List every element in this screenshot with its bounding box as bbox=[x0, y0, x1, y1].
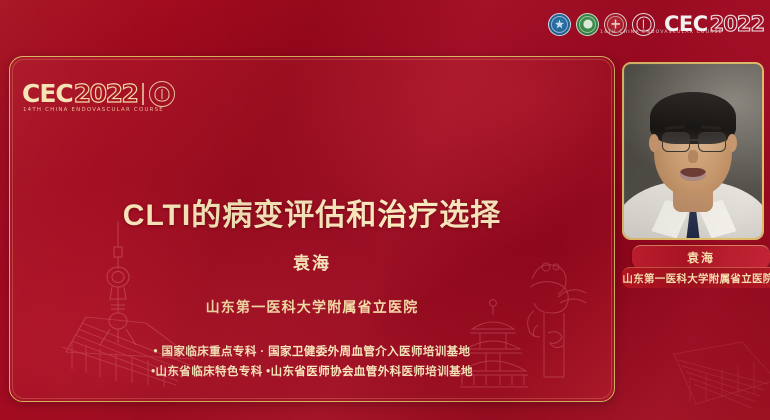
organization-emblem-1-icon bbox=[548, 13, 571, 36]
slide-cec-year: 2022 bbox=[74, 82, 138, 106]
presentation-slide[interactable]: CEC 2022 14TH CHINA ENDOVASCULAR COURSE … bbox=[9, 56, 615, 402]
speaker-name-text: 袁海 bbox=[687, 249, 715, 266]
slide-organization: 山东第一医科大学附属省立医院 bbox=[10, 297, 614, 317]
conference-logo-bar: CEC 2022 bbox=[548, 5, 766, 43]
speaker-organization-banner: 山东第一医科大学附属省立医院 bbox=[622, 267, 770, 288]
speaker-nameplate: 袁海 山东第一医科大学附属省立医院 bbox=[622, 245, 770, 287]
speaker-webcam-image bbox=[624, 64, 762, 238]
slide-bullet-line-1: • 国家临床重点专科 · 国家卫健委外周血管介入医师培训基地 bbox=[10, 343, 614, 359]
slide-title: CLTI的病变评估和治疗选择 bbox=[10, 190, 614, 234]
slide-logo-divider bbox=[142, 83, 143, 105]
speaker-video-tile[interactable] bbox=[622, 62, 764, 240]
slide-cec-logo: CEC 2022 bbox=[22, 81, 175, 107]
lotus-mark-icon bbox=[149, 81, 175, 107]
webinar-stage: CEC 2022 14TH CHINA ENDOVASCULAR COURSE bbox=[0, 0, 770, 420]
slide-bullet-line-2: •山东省临床特色专科 •山东省医师协会血管外科医师培训基地 bbox=[10, 363, 614, 379]
slide-cec-subtitle: 14TH CHINA ENDOVASCULAR COURSE bbox=[23, 107, 164, 113]
speaker-organization-text: 山东第一医科大学附属省立医院 bbox=[622, 271, 770, 286]
speaker-name-banner: 袁海 bbox=[632, 245, 770, 269]
slide-cec-word: CEC bbox=[22, 82, 73, 106]
cec-brand-subtitle: 14TH CHINA ENDOVASCULAR COURSE bbox=[600, 30, 766, 35]
organization-emblem-2-icon bbox=[576, 13, 599, 36]
slide-presenter-name: 袁海 bbox=[10, 249, 614, 274]
outer-deck-lineart-icon bbox=[656, 328, 770, 420]
